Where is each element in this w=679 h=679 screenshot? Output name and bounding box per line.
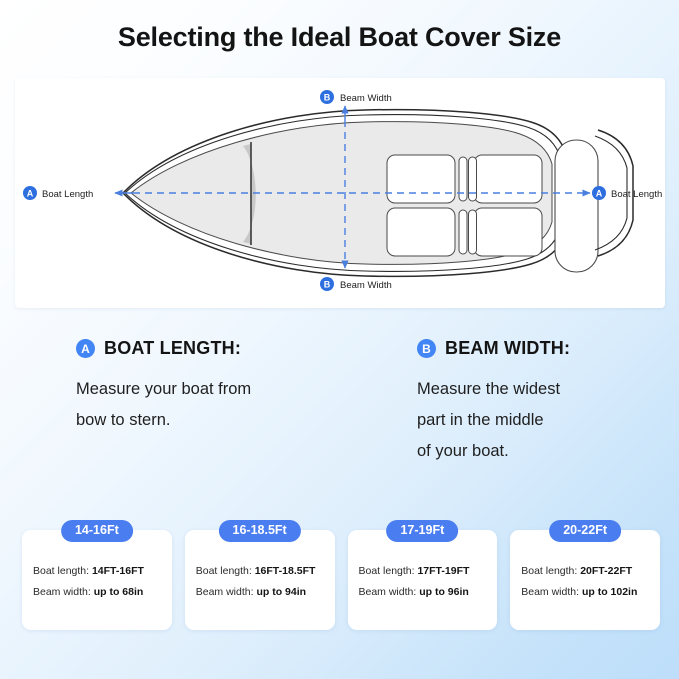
boat-diagram-panel: B Beam Width B Beam Width A Boat Length …	[15, 78, 665, 308]
explanation-a-line-1: Measure your boat from	[76, 374, 396, 405]
beam-width-bottom-label: Beam Width	[340, 280, 392, 291]
size-card-beam-label: Beam width:	[359, 586, 417, 598]
size-card-beam-row: Beam width: up to 96in	[348, 582, 498, 603]
size-card-length-label: Boat length:	[33, 565, 89, 577]
size-card-pill: 14-16Ft	[61, 520, 133, 542]
size-card-length-value: 14FT-16FT	[92, 565, 144, 577]
stern-console	[555, 140, 598, 272]
beam-width-bottom-badge-letter: B	[324, 280, 331, 290]
divider-strip-bottom-a	[459, 210, 467, 254]
explanation-b-line-2: part in the middle	[417, 405, 667, 436]
size-card-length-row: Boat length: 16FT-18.5FT	[185, 561, 335, 582]
boat-length-right-label: Boat Length	[611, 189, 662, 200]
size-card[interactable]: 14-16Ft Boat length: 14FT-16FT Beam widt…	[22, 530, 172, 630]
size-card-beam-value: up to 102in	[582, 586, 637, 598]
explanation-a-line-2: bow to stern.	[76, 405, 396, 436]
size-card-pill: 20-22Ft	[549, 520, 621, 542]
size-cards-row: 14-16Ft Boat length: 14FT-16FT Beam widt…	[22, 530, 660, 632]
explanation-a-body: Measure your boat from bow to stern.	[76, 374, 396, 436]
explanation-boat-length: A BOAT LENGTH: Measure your boat from bo…	[76, 338, 396, 436]
size-card-length-row: Boat length: 14FT-16FT	[22, 561, 172, 582]
seat-front-left	[387, 155, 455, 203]
explanation-b-heading: BEAM WIDTH:	[445, 338, 570, 359]
page-title: Selecting the Ideal Boat Cover Size	[118, 22, 561, 53]
size-card-beam-label: Beam width:	[196, 586, 254, 598]
boat-diagram-svg: B Beam Width B Beam Width A Boat Length …	[15, 78, 665, 308]
size-card-length-label: Boat length:	[196, 565, 252, 577]
size-card-pill: 16-18.5Ft	[219, 520, 301, 542]
boat-length-right-badge-letter: A	[596, 189, 603, 199]
boat-length-left-label: Boat Length	[42, 189, 93, 200]
divider-strip-top-a	[459, 157, 467, 201]
size-card-beam-row: Beam width: up to 68in	[22, 582, 172, 603]
explanation-beam-width: B BEAM WIDTH: Measure the widest part in…	[417, 338, 667, 467]
beam-width-top-label: Beam Width	[340, 93, 392, 104]
size-card-beam-label: Beam width:	[521, 586, 579, 598]
size-card-length-label: Boat length:	[521, 565, 577, 577]
explanation-a-heading: BOAT LENGTH:	[104, 338, 241, 359]
size-card-pill: 17-19Ft	[386, 520, 458, 542]
beam-width-top-badge-letter: B	[324, 93, 331, 103]
explanation-a-heading-row: A BOAT LENGTH:	[76, 338, 396, 359]
size-card-length-value: 16FT-18.5FT	[255, 565, 316, 577]
explanation-b-body: Measure the widest part in the middle of…	[417, 374, 667, 467]
size-card[interactable]: 16-18.5Ft Boat length: 16FT-18.5FT Beam …	[185, 530, 335, 630]
seat-rear-left	[387, 208, 455, 256]
explanation-b-line-1: Measure the widest	[417, 374, 667, 405]
size-card-length-label: Boat length:	[359, 565, 415, 577]
size-card-beam-value: up to 94in	[256, 586, 306, 598]
explanation-b-heading-row: B BEAM WIDTH:	[417, 338, 667, 359]
divider-strip-top-b	[469, 157, 477, 201]
size-card-length-value: 17FT-19FT	[417, 565, 469, 577]
size-card-length-row: Boat length: 20FT-22FT	[510, 561, 660, 582]
size-card[interactable]: 20-22Ft Boat length: 20FT-22FT Beam widt…	[510, 530, 660, 630]
boat-length-left-badge-letter: A	[27, 189, 34, 199]
seat-rear-right	[474, 208, 542, 256]
size-card-beam-value: up to 68in	[94, 586, 144, 598]
explanations-section: A BOAT LENGTH: Measure your boat from bo…	[0, 338, 679, 498]
size-card-beam-row: Beam width: up to 102in	[510, 582, 660, 603]
size-card-length-value: 20FT-22FT	[580, 565, 632, 577]
size-card-beam-label: Beam width:	[33, 586, 91, 598]
size-card-length-row: Boat length: 17FT-19FT	[348, 561, 498, 582]
divider-strip-bottom-b	[469, 210, 477, 254]
explanation-b-line-3: of your boat.	[417, 436, 667, 467]
badge-a-icon: A	[76, 339, 95, 358]
size-card[interactable]: 17-19Ft Boat length: 17FT-19FT Beam widt…	[348, 530, 498, 630]
seat-front-right	[474, 155, 542, 203]
size-card-beam-value: up to 96in	[419, 586, 469, 598]
size-card-beam-row: Beam width: up to 94in	[185, 582, 335, 603]
badge-b-icon: B	[417, 339, 436, 358]
title-bar: Selecting the Ideal Boat Cover Size	[0, 0, 679, 75]
